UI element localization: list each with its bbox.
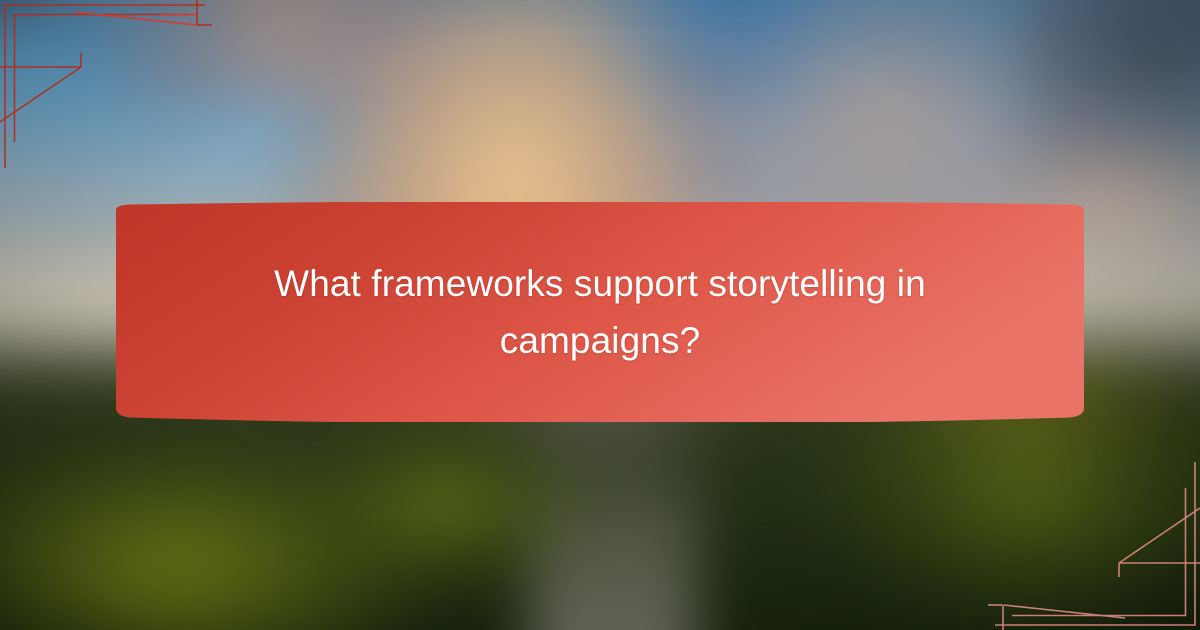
question-text: What frameworks support storytelling in … bbox=[250, 255, 950, 370]
question-card-text-area: What frameworks support storytelling in … bbox=[102, 202, 1098, 422]
share-card-canvas: What frameworks support storytelling in … bbox=[0, 0, 1200, 630]
question-card[interactable]: What frameworks support storytelling in … bbox=[102, 202, 1098, 422]
